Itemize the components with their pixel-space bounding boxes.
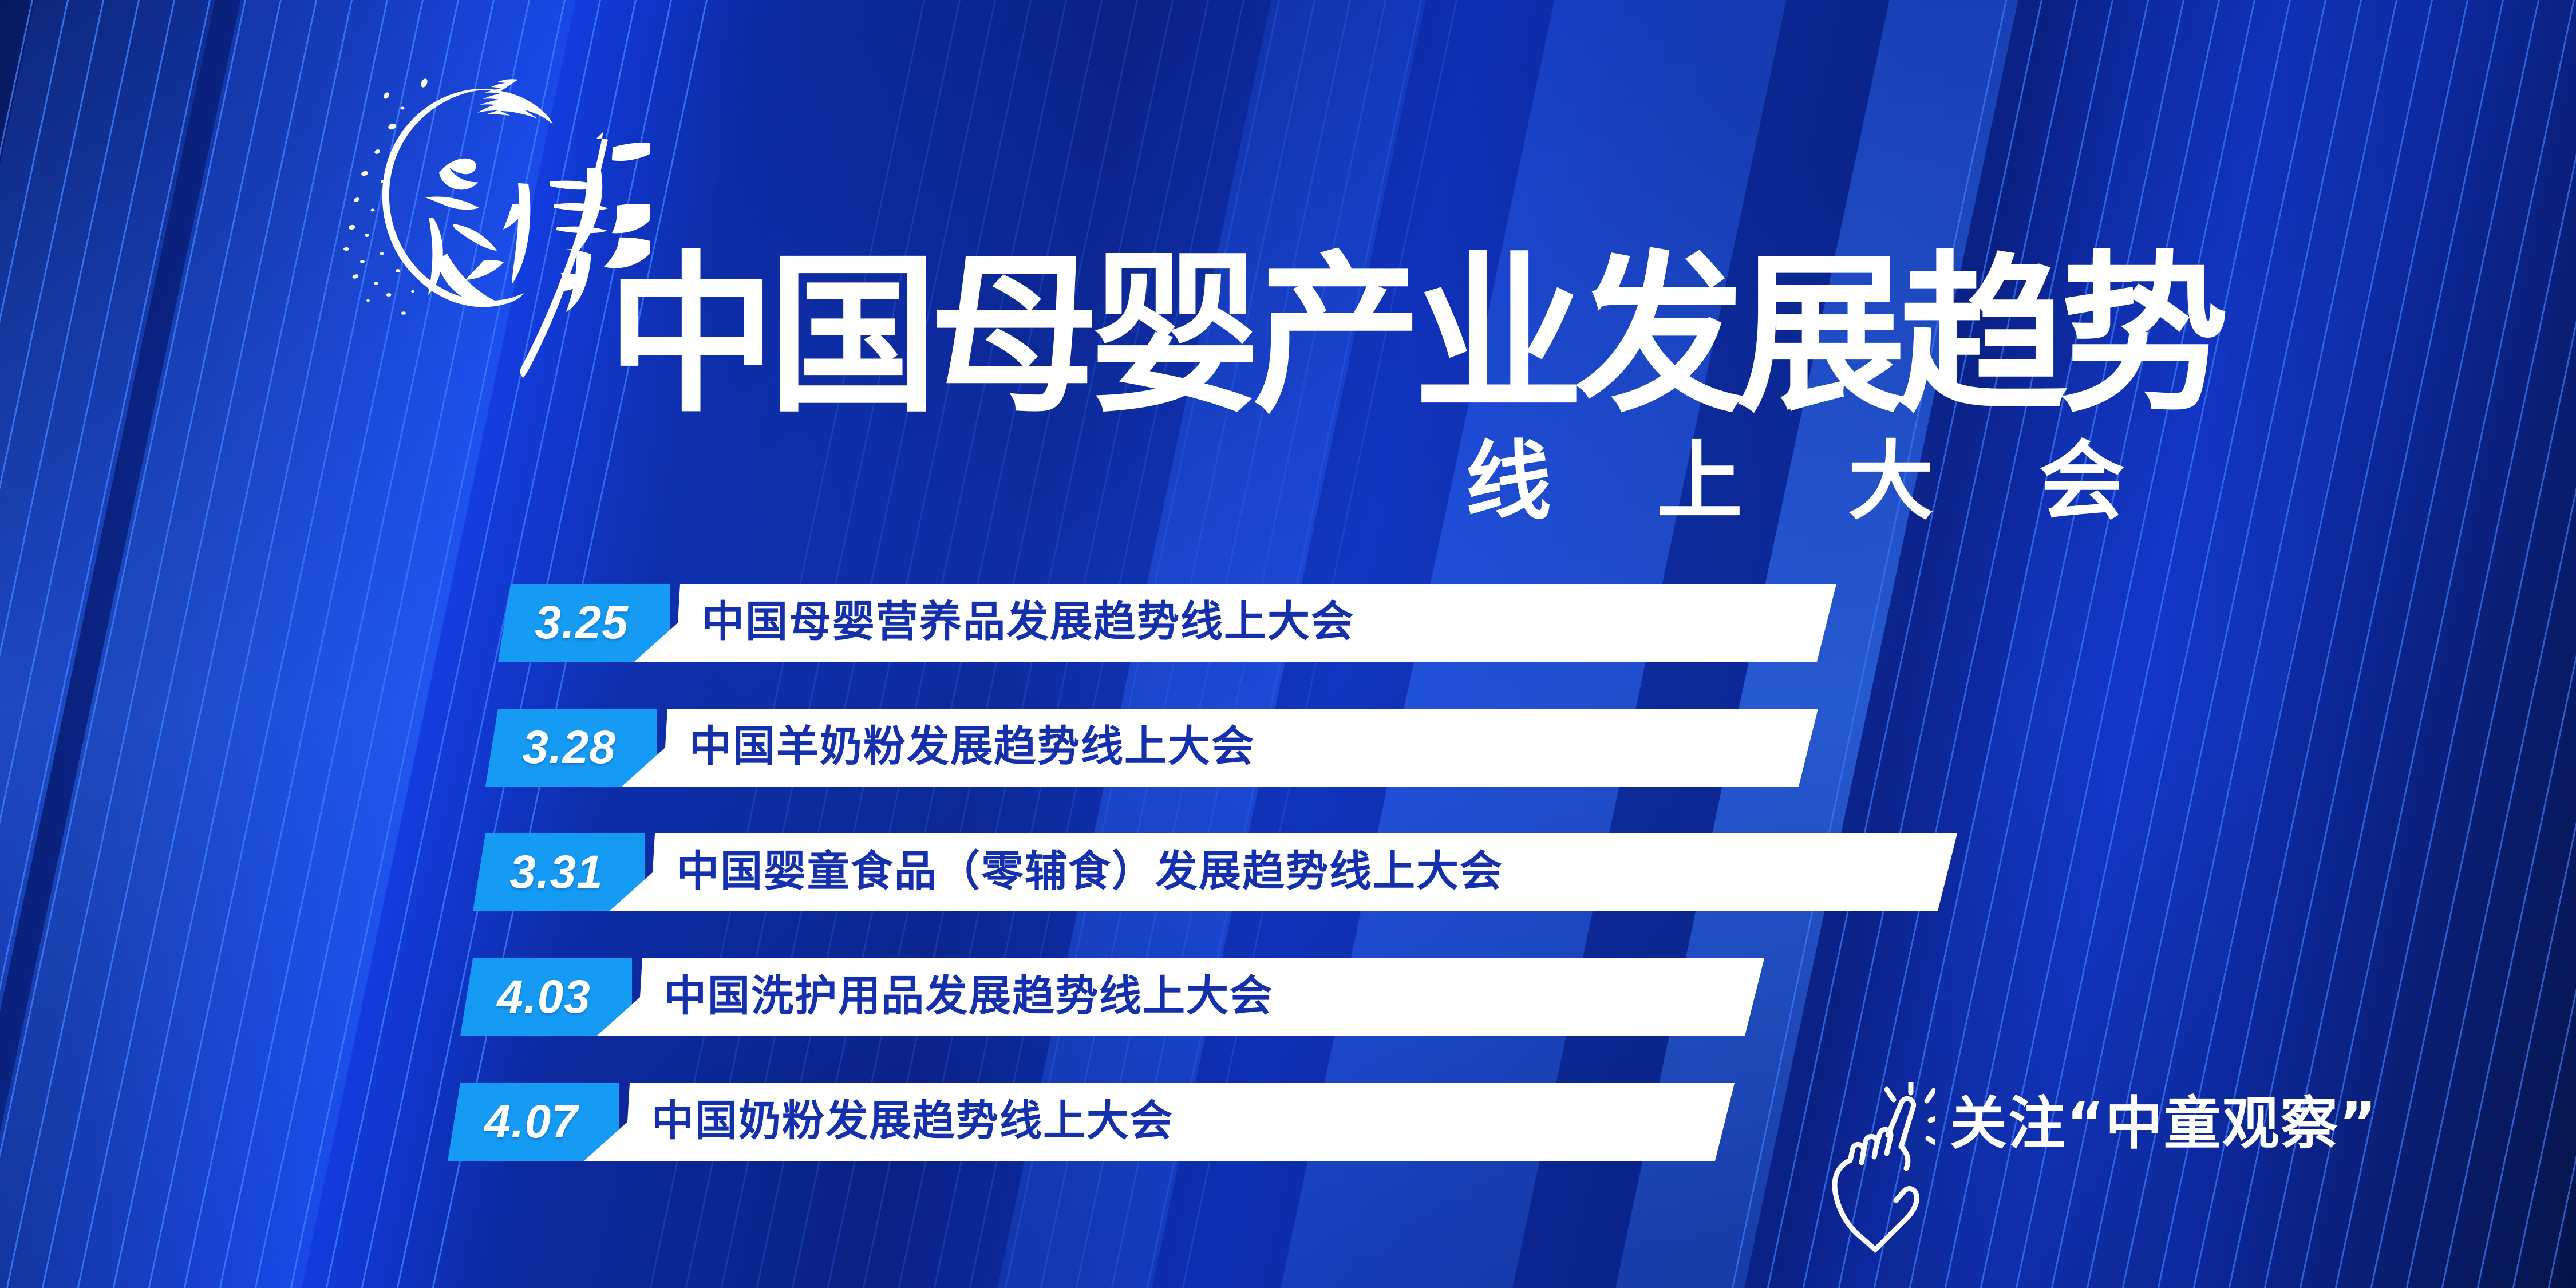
session-date-badge[interactable]: 3.31 [473,833,645,911]
session-title-label: 中国羊奶粉发展趋势线上大会 [622,725,1255,768]
page-subtitle-text: 线上大会 [1465,432,2158,532]
session-title-bar[interactable]: 中国洗护用品发展趋势线上大会 [596,958,1764,1036]
session-title-bar[interactable]: 中国羊奶粉发展趋势线上大会 [622,709,1818,787]
session-date-badge[interactable]: 4.03 [460,958,632,1036]
page-subtitle: 线上大会 [1465,426,2175,535]
page-title-text: 中国母婴产业发展趋势 [607,236,2226,436]
poster-canvas: 中国母婴产业发展趋势 线上大会 3.25 中国母婴营养品发展趋势线上大会 [0,0,2576,1288]
follow-cta[interactable]: 关注“中童观察” [1820,1079,2465,1251]
session-title-label: 中国奶粉发展趋势线上大会 [584,1100,1174,1142]
pointing-hand-click-icon [1820,1082,1935,1254]
session-title-bar[interactable]: 中国婴童食品（零辅食）发展趋势线上大会 [609,833,1957,911]
session-title-label: 中国母婴营养品发展趋势线上大会 [634,600,1354,643]
schedule-row[interactable]: 4.03 中国洗护用品发展趋势线上大会 [0,958,2576,1050]
session-date-label: 4.07 [484,1099,578,1145]
schedule-row[interactable]: 3.25 中国母婴营养品发展趋势线上大会 [0,584,2576,675]
session-title-label: 中国洗护用品发展趋势线上大会 [596,975,1273,1017]
session-date-label: 3.31 [509,849,603,896]
session-date-label: 4.03 [497,974,591,1021]
schedule-row[interactable]: 3.28 中国羊奶粉发展趋势线上大会 [0,709,2576,800]
session-date-badge[interactable]: 3.28 [485,709,657,787]
session-title-label: 中国婴童食品（零辅食）发展趋势线上大会 [609,850,1503,892]
session-date-label: 3.25 [535,599,629,646]
schedule-row[interactable]: 3.31 中国婴童食品（零辅食）发展趋势线上大会 [0,833,2576,925]
calligraphy-seal-yiqinghou [329,60,650,381]
follow-cta-text-wrap: 关注“中童观察” [1950,1084,2465,1164]
session-title-bar[interactable]: 中国奶粉发展趋势线上大会 [584,1083,1735,1161]
session-date-label: 3.28 [522,724,616,771]
session-date-badge[interactable]: 4.07 [448,1083,619,1161]
session-title-bar[interactable]: 中国母婴营养品发展趋势线上大会 [634,584,1836,662]
page-title: 中国母婴产业发展趋势 [607,232,2244,438]
session-date-badge[interactable]: 3.25 [498,584,670,662]
follow-cta-label: 关注“中童观察” [1950,1090,2377,1157]
